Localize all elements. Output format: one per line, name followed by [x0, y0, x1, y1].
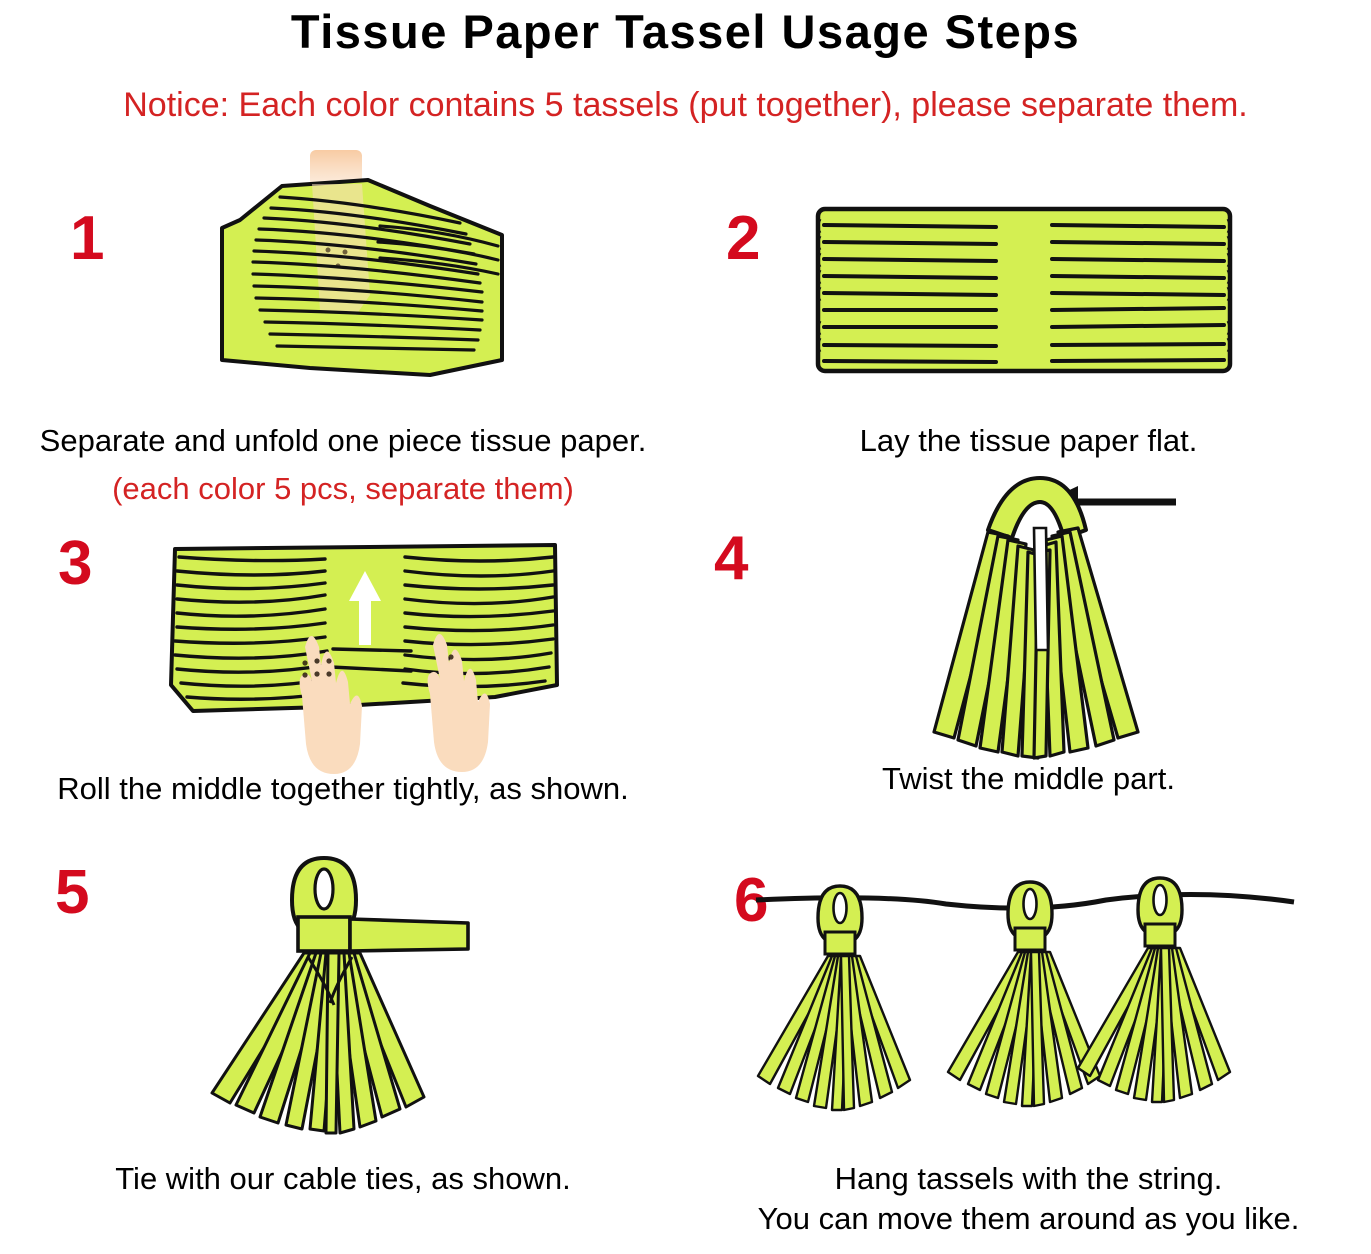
step-1-sub-caption: (each color 5 pcs, separate them) — [0, 470, 686, 508]
step-1-illustration — [130, 150, 590, 400]
cable-tie — [298, 917, 468, 951]
step-6: 6 — [686, 840, 1371, 1254]
step-3-illustration — [165, 535, 565, 755]
step-5-caption: Tie with our cable ties, as shown. — [0, 1160, 686, 1198]
notice-text: Notice: Each color contains 5 tassels (p… — [0, 86, 1371, 125]
step-6-illustration — [746, 860, 1306, 1150]
step-3-number: 3 — [58, 533, 92, 595]
step-1: 1 — [0, 150, 686, 510]
step-1-caption: Separate and unfold one piece tissue pap… — [0, 422, 686, 460]
step-2-illustration — [814, 205, 1234, 375]
page-title: Tissue Paper Tassel Usage Steps — [0, 4, 1371, 59]
step-4-number: 4 — [714, 528, 748, 590]
step-5: 5 — [0, 840, 686, 1254]
step-6-sub-caption: You can move them around as you like. — [686, 1200, 1371, 1238]
step-3: 3 — [0, 515, 686, 845]
hanging-tassel — [948, 882, 1100, 1106]
step-2-number: 2 — [726, 208, 760, 270]
step-6-caption: Hang tassels with the string. — [686, 1160, 1371, 1198]
step-4: 4 — [686, 460, 1371, 845]
step-5-number: 5 — [55, 862, 89, 924]
hanging-tassel — [1078, 878, 1230, 1102]
step-5-illustration — [180, 845, 580, 1145]
step-4-caption: Twist the middle part. — [686, 760, 1371, 798]
step-2-caption: Lay the tissue paper flat. — [686, 422, 1371, 460]
step-1-number: 1 — [70, 208, 104, 270]
hanging-tassel — [758, 886, 910, 1110]
step-2: 2 — [686, 150, 1371, 510]
step-4-illustration — [846, 470, 1246, 770]
step-3-caption: Roll the middle together tightly, as sho… — [0, 770, 686, 808]
